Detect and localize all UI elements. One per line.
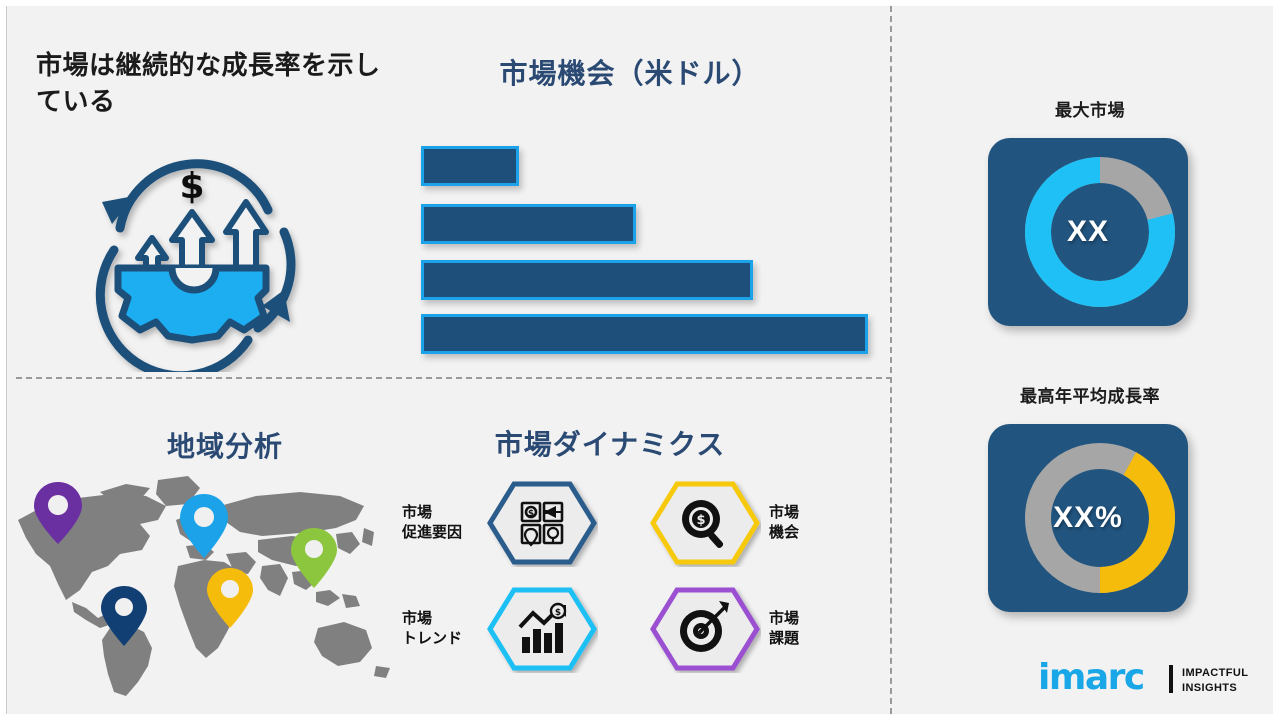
dynamics-item-challenges[interactable]: 市場 課題	[640, 584, 845, 674]
imarc-logo-divider	[1169, 665, 1173, 693]
slide-edge-right	[1273, 0, 1280, 720]
imarc-wordmark: imarc	[1038, 657, 1144, 698]
imarc-logo: imarc IMPACTFUL INSIGHTS	[1038, 655, 1258, 703]
dynamics-hex-grid: 市場 促進要因	[400, 478, 820, 678]
bar-row	[421, 314, 868, 354]
bar-value-2	[421, 204, 636, 244]
opportunity-bar-chart	[421, 146, 881, 346]
dynamics-item-opportunities-label: 市場 機会	[761, 503, 845, 543]
hexagon-trends	[490, 590, 594, 668]
growth-panel-title: 市場は継続的な成長率を示している	[36, 48, 396, 120]
slide-edge-bottom	[0, 714, 1280, 720]
largest-market-value: XX	[988, 138, 1188, 326]
hexagon-drivers	[490, 484, 594, 562]
largest-market-card: XX	[988, 138, 1188, 326]
dynamics-item-challenges-label: 市場 課題	[761, 609, 845, 649]
highest-cagr-value: XX%	[988, 424, 1188, 612]
bar-row	[421, 146, 519, 186]
regional-panel-title: 地域分析	[110, 425, 340, 465]
divider-vertical	[890, 6, 892, 714]
svg-text:$: $	[528, 509, 534, 519]
bar-value-4	[421, 314, 868, 354]
world-map	[0, 462, 400, 702]
opportunity-panel-title: 市場機会（米ドル）	[410, 52, 850, 92]
slide-edge-top	[0, 0, 1280, 6]
dynamics-item-opportunities[interactable]: 市場 機会 $	[640, 478, 845, 568]
svg-text:$: $	[555, 608, 561, 618]
growth-cycle-gear-icon: $	[72, 140, 312, 372]
bar-value-3	[421, 260, 753, 300]
bar-value-1	[421, 146, 519, 186]
svg-text:$: $	[179, 166, 204, 207]
bar-row	[421, 260, 753, 300]
highest-cagr-card: XX%	[988, 424, 1188, 612]
dynamics-item-trends-label: 市場 トレンド	[402, 609, 486, 649]
divider-horizontal	[16, 377, 892, 379]
dynamics-item-drivers-label: 市場 促進要因	[402, 503, 486, 543]
largest-market-title: 最大市場	[960, 96, 1220, 121]
svg-text:$: $	[696, 513, 705, 528]
slide-canvas: 市場は継続的な成長率を示している $	[0, 0, 1280, 720]
bar-row	[421, 204, 636, 244]
highest-cagr-title: 最高年平均成長率	[950, 382, 1230, 407]
imarc-tagline: IMPACTFUL INSIGHTS	[1182, 666, 1248, 695]
dynamics-panel-title: 市場ダイナミクス	[400, 423, 820, 463]
dynamics-item-drivers[interactable]: 市場 促進要因	[402, 478, 607, 568]
dynamics-item-trends[interactable]: 市場 トレンド	[402, 584, 607, 674]
